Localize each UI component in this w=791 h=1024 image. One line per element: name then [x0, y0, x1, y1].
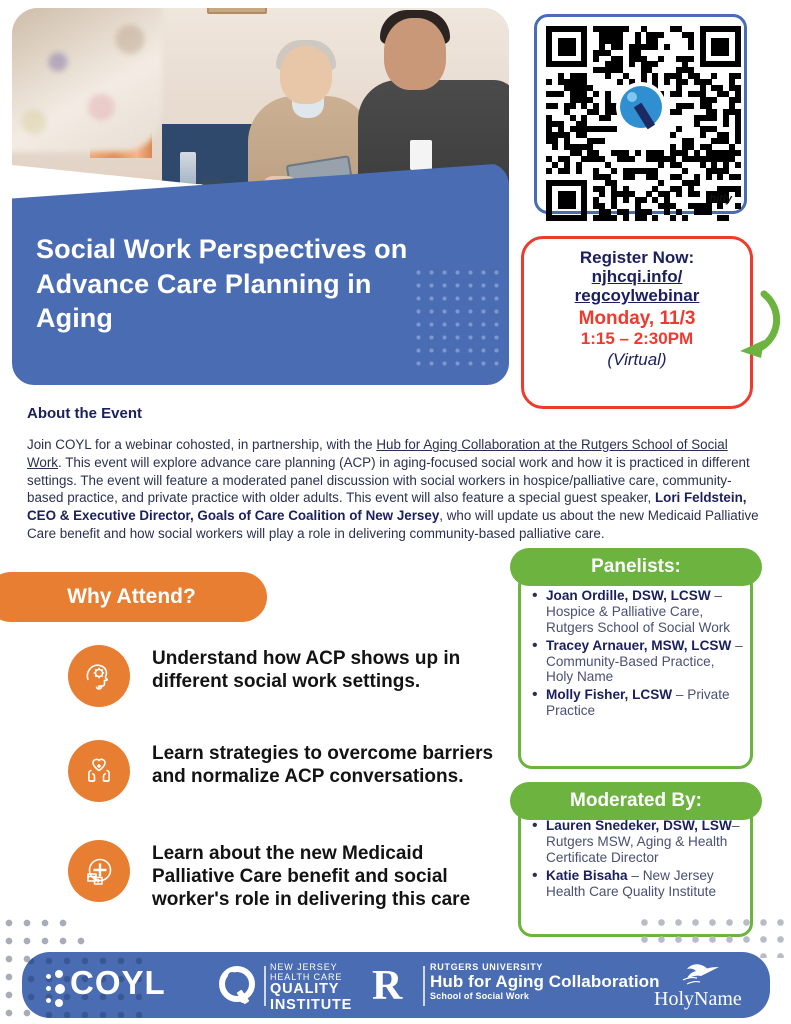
- list-item: Katie Bisaha – New Jersey Health Care Qu…: [530, 868, 744, 900]
- njhcqi-logo-text: NEW JERSEY HEALTH CARE QUALITY INSTITUTE: [270, 963, 352, 1014]
- register-box[interactable]: Register Now: njhcqi.info/ regcoylwebina…: [521, 236, 753, 409]
- event-time: 1:15 – 2:30PM: [524, 330, 750, 349]
- holyname-name: HolyName: [654, 988, 742, 1011]
- photo-care-worker-badge: [410, 140, 432, 170]
- about-paragraph: Join COYL for a webinar cohosted, in par…: [27, 436, 764, 543]
- coyl-q-icon: [620, 86, 662, 128]
- medical-cross-icon: [68, 840, 130, 902]
- register-url-line1[interactable]: njhcqi.info/: [524, 267, 750, 286]
- coyl-dots-icon: [46, 968, 68, 1008]
- page-title: Social Work Perspectives on Advance Care…: [36, 232, 416, 336]
- rutgers-line2: Hub for Aging Collaboration: [430, 973, 660, 992]
- footer-divider-2: [423, 966, 425, 1006]
- list-item: Molly Fisher, LCSW – Private Practice: [530, 687, 744, 719]
- benefit-item: Understand how ACP shows up in different…: [68, 645, 508, 707]
- register-heading: Register Now:: [524, 248, 750, 267]
- moderated-by-list: Lauren Snedeker, DSW, LSW– Rutgers MSW, …: [530, 818, 744, 901]
- panelist-name: Joan Ordille, DSW, LCSW: [546, 588, 711, 603]
- njhcqi-line3: QUALITY: [270, 982, 352, 998]
- rutgers-r-mark: R: [372, 962, 402, 1010]
- register-url-line2[interactable]: regcoylwebinar: [524, 286, 750, 305]
- moderator-name: Lauren Snedeker, DSW, LSW: [546, 818, 732, 833]
- qr-code-matrix: [546, 26, 735, 202]
- rutgers-line3: School of Social Work: [430, 992, 660, 1002]
- benefit-text: Understand how ACP shows up in different…: [152, 645, 508, 693]
- why-attend-heading: Why Attend?: [0, 572, 267, 622]
- footer-divider-1: [264, 966, 266, 1006]
- banner-dot-pattern: [412, 266, 506, 366]
- green-arrow-icon: [734, 288, 788, 362]
- benefit-item: Learn strategies to overcome barriers an…: [68, 740, 508, 802]
- head-gears-icon: [68, 645, 130, 707]
- qr-center-logo: [616, 82, 666, 132]
- photo-older-man-head: [280, 46, 332, 104]
- flyer-page: Social Work Perspectives on Advance Care…: [0, 0, 791, 1024]
- about-heading: About the Event: [27, 405, 142, 422]
- benefit-text: Learn about the new Medicaid Palliative …: [152, 840, 508, 912]
- moderated-by-heading: Moderated By:: [510, 782, 762, 820]
- moderated-by-heading-label: Moderated By:: [570, 790, 702, 812]
- panelist-name: Molly Fisher, LCSW: [546, 687, 672, 702]
- event-date: Monday, 11/3: [524, 309, 750, 330]
- photo-foreground-blur: [12, 8, 162, 152]
- coyl-logo-text: COYL: [70, 964, 166, 1002]
- holyname-bird-icon: [671, 962, 725, 988]
- photo-picture-frame: [207, 8, 267, 14]
- benefit-item: Learn about the new Medicaid Palliative …: [68, 840, 508, 912]
- benefit-text: Learn strategies to overcome barriers an…: [152, 740, 508, 788]
- about-text-a: Join COYL for a webinar cohosted, in par…: [27, 437, 376, 452]
- photo-care-worker-head: [384, 18, 446, 90]
- bitly-label: bitly: [709, 193, 732, 205]
- njhcqi-q-icon: [216, 964, 260, 1008]
- coyl-q-dot: [627, 92, 637, 102]
- moderator-name: Katie Bisaha: [546, 868, 628, 883]
- about-text-b: . This event will explore advance care p…: [27, 455, 750, 506]
- list-item: Joan Ordille, DSW, LCSW – Hospice & Pall…: [530, 588, 744, 636]
- list-item: Tracey Arnauer, MSW, LCSW – Community-Ba…: [530, 638, 744, 686]
- panelists-heading: Panelists:: [510, 548, 762, 586]
- panelists-list: Joan Ordille, DSW, LCSW – Hospice & Pall…: [530, 588, 744, 721]
- event-format: (Virtual): [524, 350, 750, 370]
- photo-glass: [180, 152, 196, 186]
- list-item: Lauren Snedeker, DSW, LSW– Rutgers MSW, …: [530, 818, 744, 866]
- njhcqi-line4: INSTITUTE: [270, 998, 352, 1014]
- qr-code[interactable]: bitly: [534, 14, 747, 214]
- panelists-heading-label: Panelists:: [591, 556, 681, 578]
- panelist-name: Tracey Arnauer, MSW, LCSW: [546, 638, 731, 653]
- hands-heart-icon: [68, 740, 130, 802]
- why-attend-label: Why Attend?: [57, 585, 196, 609]
- holyname-logo: HolyName: [654, 962, 742, 1011]
- rutgers-logo-text: RUTGERS UNIVERSITY Hub for Aging Collabo…: [430, 963, 660, 1001]
